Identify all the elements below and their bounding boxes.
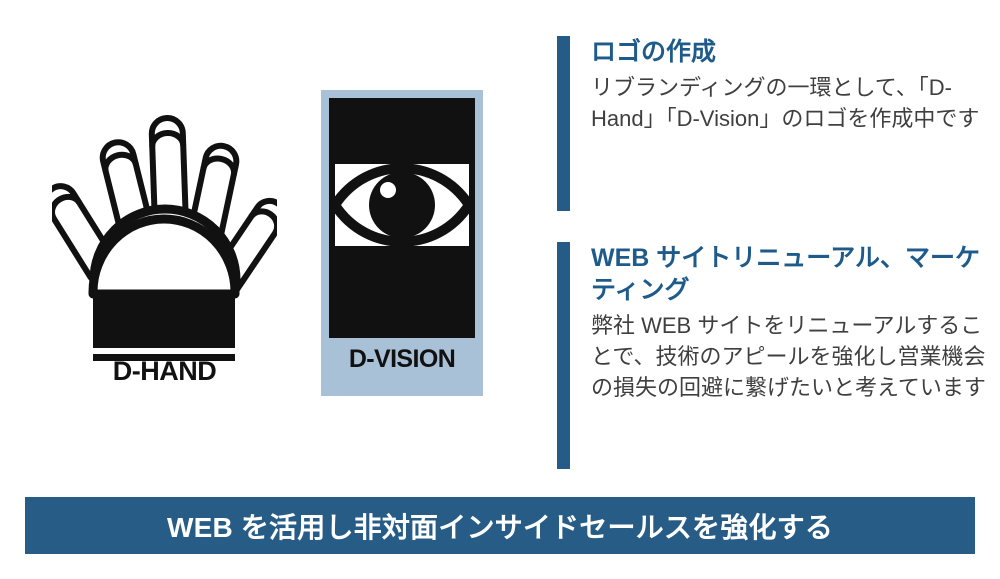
block-heading-2: WEB サイトリニューアル、マーケティング bbox=[591, 242, 987, 306]
accent-bar-2 bbox=[557, 242, 570, 469]
bottom-banner-text: WEB を活用し非対面インサイドセールスを強化する bbox=[167, 506, 833, 546]
bottom-banner: WEB を活用し非対面インサイドセールスを強化する bbox=[25, 497, 975, 554]
block-body-2: WEB サイトリニューアル、マーケティング 弊社 WEB サイトをリニューアルす… bbox=[570, 242, 987, 469]
d-vision-label: D-VISION bbox=[321, 345, 483, 374]
eye-icon bbox=[329, 98, 475, 338]
text-block-logo-creation: ロゴの作成 リブランディングの一環として、「D-Hand」「D-Vision」の… bbox=[557, 36, 987, 211]
block-body-1: ロゴの作成 リブランディングの一環として、「D-Hand」「D-Vision」の… bbox=[570, 36, 987, 211]
d-hand-logo bbox=[52, 100, 277, 395]
d-vision-logo: D-VISION bbox=[321, 90, 483, 396]
palm-shape bbox=[93, 219, 235, 361]
block-text-1: リブランディングの一環として、「D-Hand」「D-Vision」のロゴを作成中… bbox=[591, 72, 987, 134]
eye-highlight bbox=[380, 182, 396, 198]
text-block-web-renewal: WEB サイトリニューアル、マーケティング 弊社 WEB サイトをリニューアルす… bbox=[557, 242, 987, 469]
block-heading-1: ロゴの作成 bbox=[591, 36, 987, 68]
eye-iris bbox=[369, 172, 435, 238]
d-hand-label: D-HAND bbox=[52, 356, 277, 387]
logos-area: D-HAND D-VISION bbox=[0, 0, 540, 480]
accent-bar-1 bbox=[557, 36, 570, 211]
block-text-2: 弊社 WEB サイトをリニューアルすることで、技術のアピールを強化し営業機会の損… bbox=[591, 310, 987, 404]
hand-print-icon bbox=[52, 100, 277, 395]
